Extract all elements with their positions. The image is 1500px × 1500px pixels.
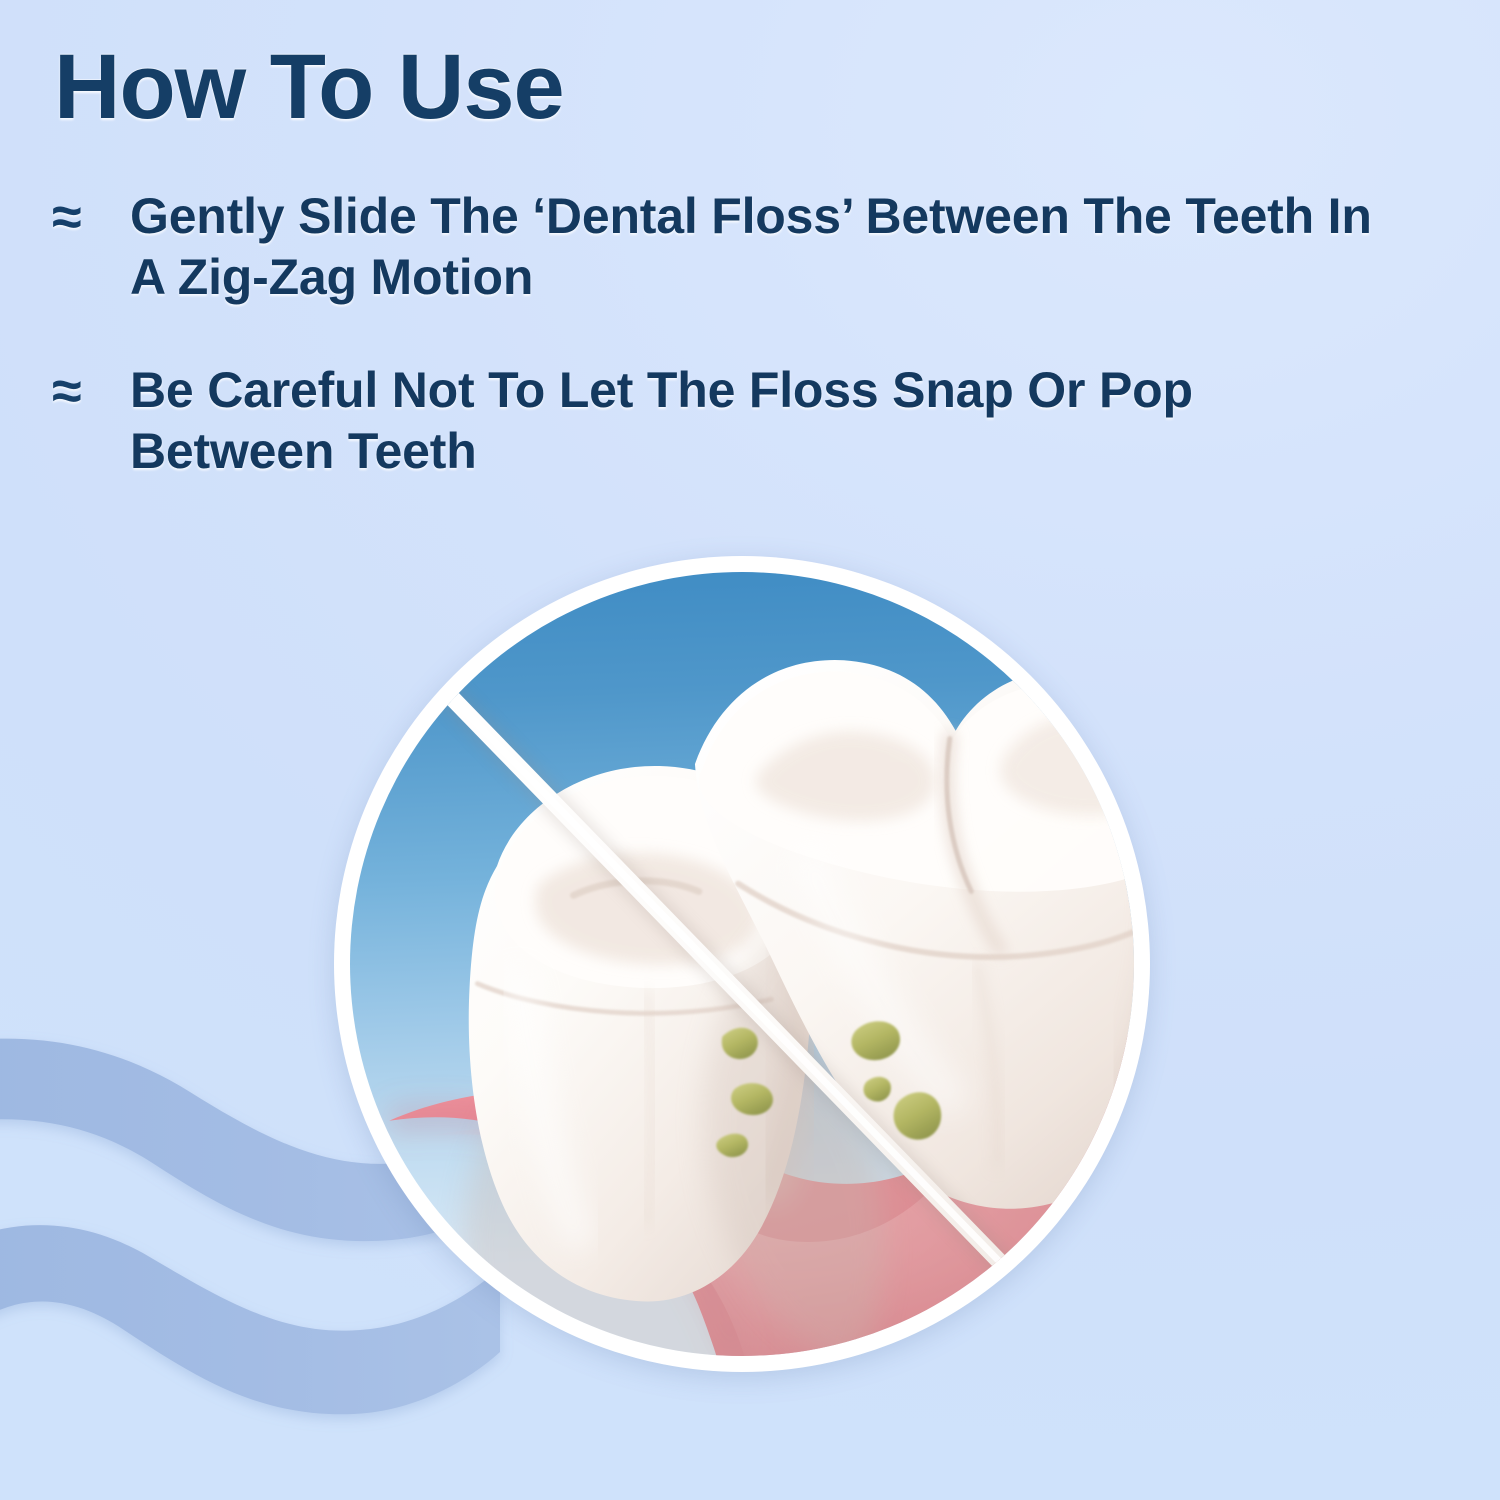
poster-canvas: How To Use ≈ Gently Slide The ‘Dental Fl… — [0, 0, 1500, 1500]
illustration-frame — [334, 556, 1150, 1372]
approx-bullet-icon: ≈ — [52, 360, 130, 424]
list-item: ≈ Gently Slide The ‘Dental Floss’ Betwee… — [52, 186, 1382, 308]
approx-bullet-icon: ≈ — [52, 186, 130, 250]
list-item: ≈ Be Careful Not To Let The Floss Snap O… — [52, 360, 1382, 482]
instruction-list: ≈ Gently Slide The ‘Dental Floss’ Betwee… — [52, 186, 1382, 482]
teeth-flossing-image — [350, 572, 1134, 1356]
instruction-text: Gently Slide The ‘Dental Floss’ Between … — [130, 186, 1382, 308]
instruction-text: Be Careful Not To Let The Floss Snap Or … — [130, 360, 1382, 482]
page-title: How To Use — [54, 38, 564, 137]
